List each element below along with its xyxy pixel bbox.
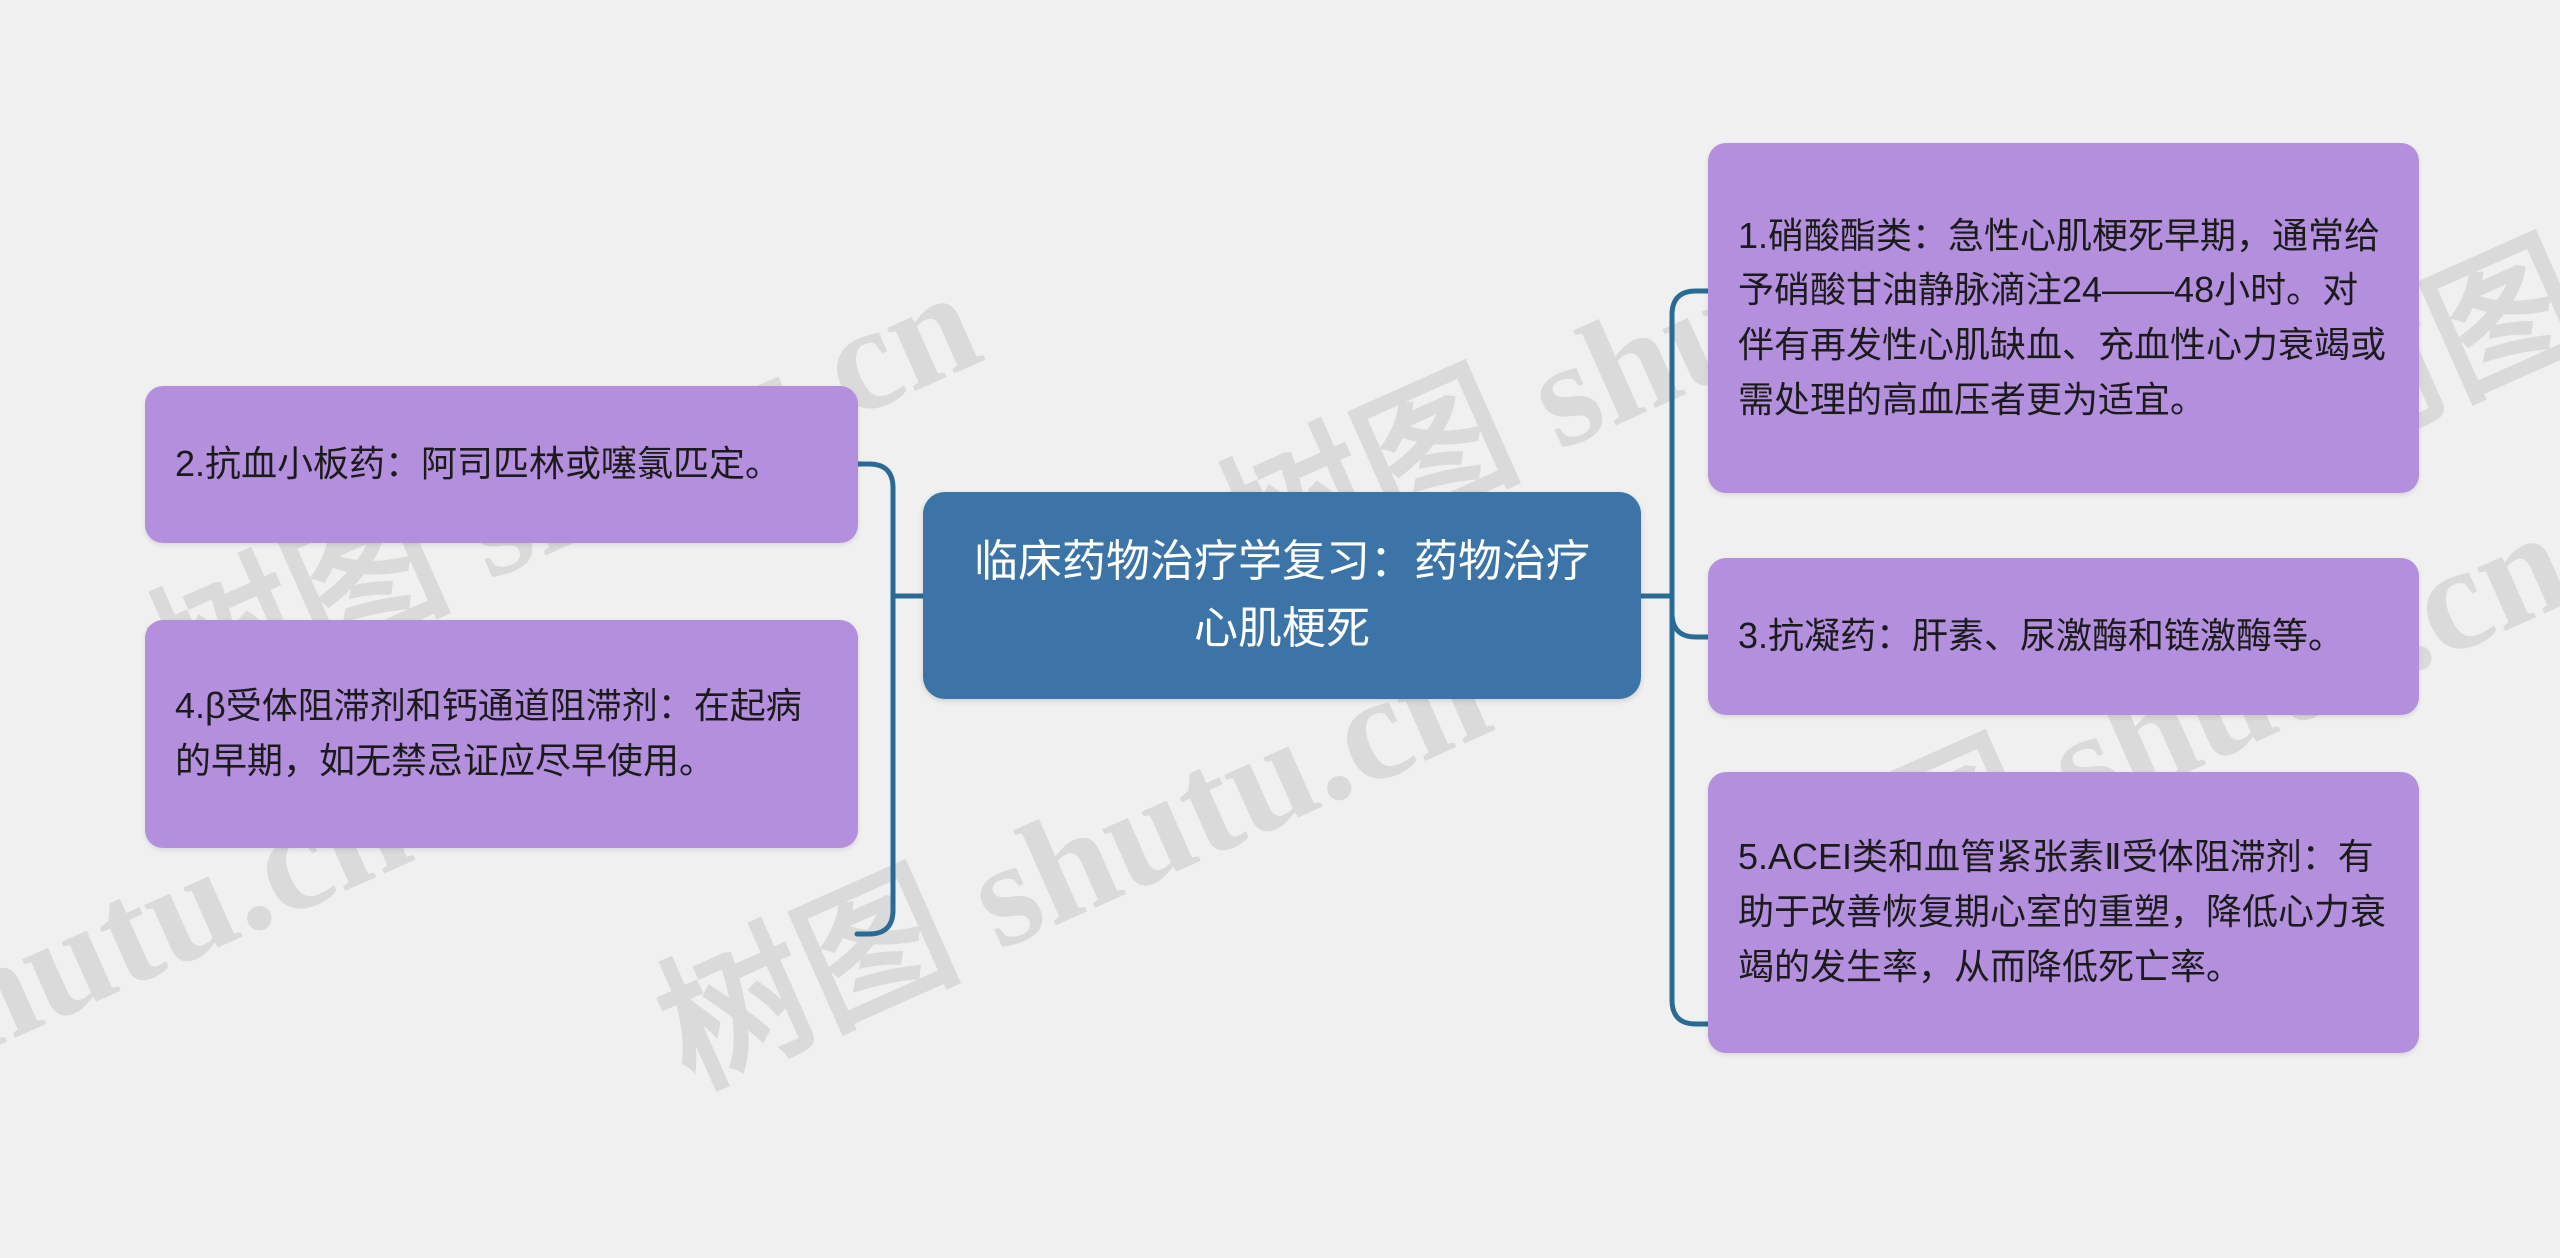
connector-to-node-5 <box>1672 596 1708 1024</box>
branch-node-1-label: 1.硝酸酯类：急性心肌梗死早期，通常给予硝酸甘油静脉滴注24——48小时。对伴有… <box>1738 209 2389 428</box>
connector-to-node-2 <box>857 464 893 596</box>
branch-node-2-label: 2.抗血小板药：阿司匹林或噻氯匹定。 <box>175 437 828 492</box>
branch-node-3-label: 3.抗凝药：肝素、尿激酶和链激酶等。 <box>1738 609 2389 664</box>
mindmap-canvas: 树图 shutu.cn 树图 shutu.cn 树图 shutu.cn 树图 s… <box>0 0 2560 1189</box>
mindmap-branch-node-3[interactable]: 3.抗凝药：肝素、尿激酶和链激酶等。 <box>1708 558 2419 715</box>
branch-node-4-label: 4.β受体阻滞剂和钙通道阻滞剂：在起病的早期，如无禁忌证应尽早使用。 <box>175 679 828 788</box>
mindmap-branch-node-5[interactable]: 5.ACEI类和血管紧张素Ⅱ受体阻滞剂：有助于改善恢复期心室的重塑，降低心力衰竭… <box>1708 772 2419 1053</box>
mindmap-root-node[interactable]: 临床药物治疗学复习：药物治疗心肌梗死 <box>923 492 1641 699</box>
connector-to-node-4 <box>857 596 893 934</box>
connector-to-node-3 <box>1672 596 1708 637</box>
mindmap-branch-node-2[interactable]: 2.抗血小板药：阿司匹林或噻氯匹定。 <box>145 386 858 543</box>
mindmap-branch-node-1[interactable]: 1.硝酸酯类：急性心肌梗死早期，通常给予硝酸甘油静脉滴注24——48小时。对伴有… <box>1708 143 2419 493</box>
root-node-label: 临床药物治疗学复习：药物治疗心肌梗死 <box>957 529 1607 663</box>
connector-to-node-1 <box>1672 291 1708 596</box>
branch-node-5-label: 5.ACEI类和血管紧张素Ⅱ受体阻滞剂：有助于改善恢复期心室的重塑，降低心力衰竭… <box>1738 830 2389 994</box>
mindmap-branch-node-4[interactable]: 4.β受体阻滞剂和钙通道阻滞剂：在起病的早期，如无禁忌证应尽早使用。 <box>145 620 858 848</box>
